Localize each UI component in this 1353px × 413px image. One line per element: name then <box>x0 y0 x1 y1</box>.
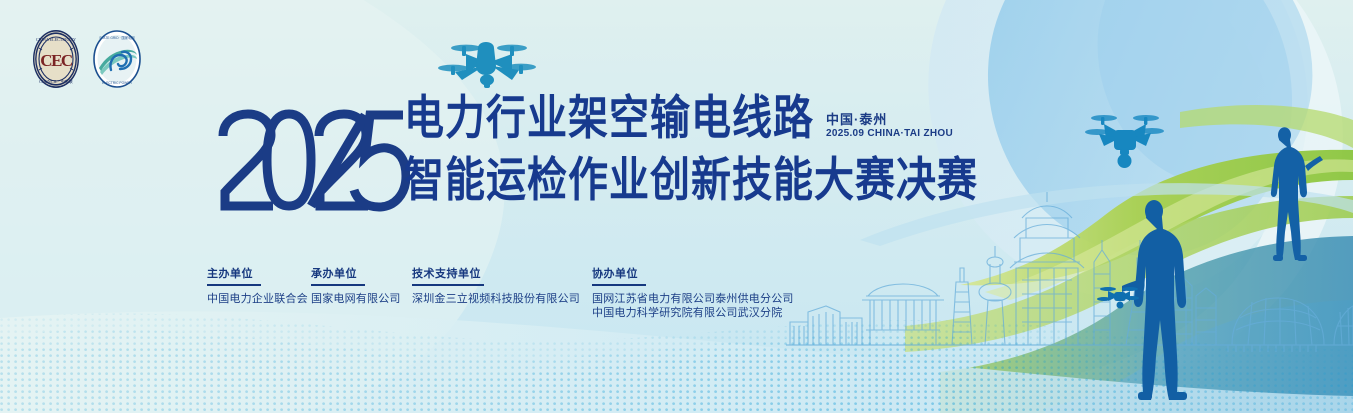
title-text-group: 电力行业架空输电线路 中国·泰州 2025.09 CHINA·TAI ZHOU … <box>404 100 978 208</box>
credit-column-1: 主办单位中国电力企业联合会 <box>207 268 311 320</box>
credit-column-3: 技术支持单位深圳金三立视频科技股份有限公司 <box>412 268 592 320</box>
location-block: 中国·泰州 2025.09 CHINA·TAI ZHOU <box>826 112 953 140</box>
credit-column-4: 协办单位国网江苏省电力有限公司泰州供电分公司中国电力科学研究院有限公司武汉分院 <box>592 268 792 320</box>
organizer-logos: CHINA ELECTRICITY COUNCIL · 中电联 CEC STAT… <box>30 28 143 90</box>
location-en: 2025.09 CHINA·TAI ZHOU <box>826 127 953 140</box>
svg-text:CEC: CEC <box>40 51 72 70</box>
credit-rule <box>311 284 365 286</box>
credit-column-2: 承办单位国家电网有限公司 <box>311 268 412 320</box>
credit-org-name: 中国电力科学研究院有限公司武汉分院 <box>592 306 792 320</box>
credit-rule <box>592 284 646 286</box>
credit-org-name: 国家电网有限公司 <box>311 292 412 306</box>
title-line-2: 智能运检作业创新技能大赛决赛 <box>404 154 978 208</box>
credit-heading: 主办单位 <box>207 268 311 281</box>
cec-seal-icon: CHINA ELECTRICITY COUNCIL · 中电联 CEC <box>30 28 82 90</box>
headline-block: 电力行业架空输电线路 中国·泰州 2025.09 CHINA·TAI ZHOU … <box>215 100 978 218</box>
title-line-1: 电力行业架空输电线路 <box>404 92 814 146</box>
svg-text:ELECTRIC POWER: ELECTRIC POWER <box>102 81 132 85</box>
svg-text:CHINA ELECTRICITY: CHINA ELECTRICITY <box>36 37 76 42</box>
credit-heading: 技术支持单位 <box>412 268 592 281</box>
credit-rule <box>207 284 261 286</box>
credit-org-name: 深圳金三立视频科技股份有限公司 <box>412 292 592 306</box>
credit-org-name: 中国电力企业联合会 <box>207 292 311 306</box>
svg-text:STATE GRID · 国家电网: STATE GRID · 国家电网 <box>99 35 135 40</box>
credit-heading: 协办单位 <box>592 268 792 281</box>
location-cn: 中国·泰州 <box>826 112 953 127</box>
event-banner: CHINA ELECTRICITY COUNCIL · 中电联 CEC STAT… <box>0 0 1353 413</box>
credit-heading: 承办单位 <box>311 268 412 281</box>
credit-rule <box>412 284 484 286</box>
svg-text:COUNCIL · 中电联: COUNCIL · 中电联 <box>39 78 73 84</box>
year-2025-graphic <box>215 106 410 218</box>
credit-org-name: 国网江苏省电力有限公司泰州供电分公司 <box>592 292 792 306</box>
sgcc-emblem-icon: STATE GRID · 国家电网 ELECTRIC POWER <box>91 28 143 90</box>
credits-row: 主办单位中国电力企业联合会承办单位国家电网有限公司技术支持单位深圳金三立视频科技… <box>207 268 792 320</box>
